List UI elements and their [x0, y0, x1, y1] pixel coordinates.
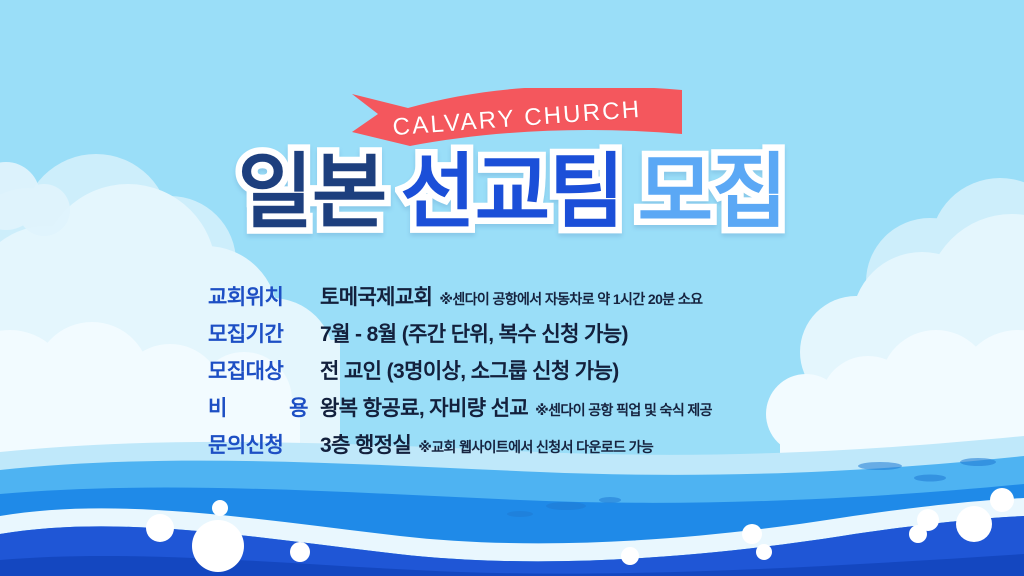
info-value: 토메국제교회	[320, 281, 432, 311]
info-row-recruitment-period: 모집기간 7월 - 8월 (주간 단위, 복수 신청 가능)	[204, 318, 820, 348]
info-note: ※센다이 공항에서 자동차로 약 1시간 20분 소요	[439, 289, 702, 309]
info-value: 왕복 항공료, 자비량 선교	[320, 392, 528, 422]
foam-bubbles	[146, 488, 1014, 572]
info-row-inquiry-application: 문의신청 3층 행정실 ※교회 웹사이트에서 신청서 다운로드 가능	[204, 429, 820, 459]
sea-band-darkest	[0, 554, 1024, 576]
info-note: ※센다이 공항 픽업 및 숙식 제공	[535, 400, 712, 420]
title-segment-japan: 일본	[237, 152, 386, 234]
calvary-church-ribbon: CALVARY CHURCH	[352, 88, 682, 150]
mission-recruitment-poster: CALVARY CHURCH 일본선교팀모집 교회위치 토메국제교회 ※센다이 …	[0, 0, 1024, 576]
sea-band-light	[0, 456, 1024, 576]
info-list: 교회위치 토메국제교회 ※센다이 공항에서 자동차로 약 1시간 20분 소요 …	[0, 281, 1024, 459]
info-row-eligibility: 모집대상 전 교인 (3명이상, 소그룹 신청 가능)	[204, 355, 820, 385]
info-label: 문의신청	[208, 429, 308, 459]
sea-band-deep	[0, 516, 1024, 576]
sea-band-medium	[0, 484, 1024, 576]
info-row-church-location: 교회위치 토메국제교회 ※센다이 공항에서 자동차로 약 1시간 20분 소요	[204, 281, 820, 311]
wave-dashes	[507, 458, 996, 517]
title-segment-mission-team: 선교팀	[400, 152, 623, 234]
info-note: ※교회 웹사이트에서 신청서 다운로드 가능	[418, 437, 653, 457]
info-value: 전 교인 (3명이상, 소그룹 신청 가능)	[320, 355, 619, 385]
title-segment-recruit: 모집	[638, 152, 787, 234]
info-row-cost: 비 용 왕복 항공료, 자비량 선교 ※센다이 공항 픽업 및 숙식 제공	[204, 392, 820, 422]
info-value: 3층 행정실	[320, 429, 411, 459]
sea-foam-upper	[0, 498, 1024, 561]
info-label: 교회위치	[208, 281, 308, 311]
info-label: 비 용	[208, 392, 308, 422]
info-label: 모집기간	[208, 318, 308, 348]
poster-title: 일본선교팀모집	[0, 152, 1024, 234]
info-value: 7월 - 8월 (주간 단위, 복수 신청 가능)	[320, 318, 628, 348]
info-label: 모집대상	[208, 355, 308, 385]
